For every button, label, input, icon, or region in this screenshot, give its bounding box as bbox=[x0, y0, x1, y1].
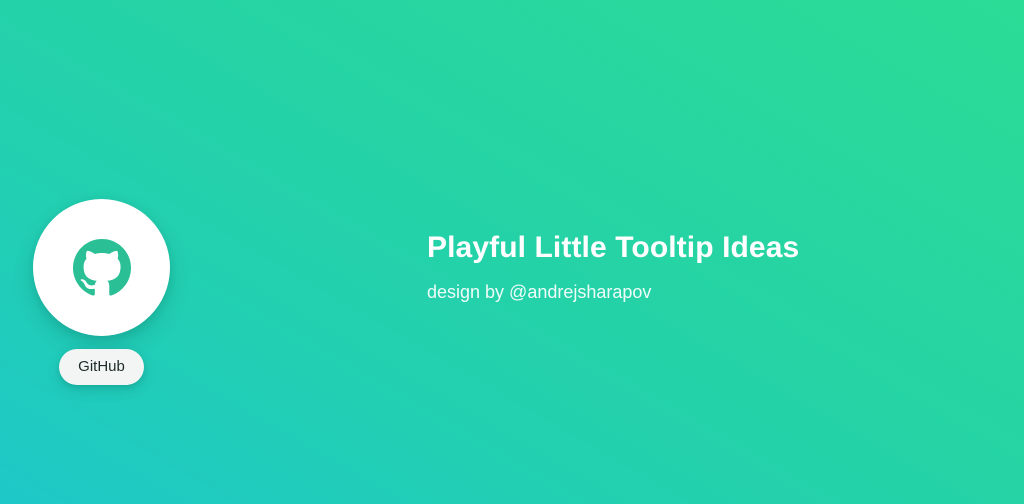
headline-block: Playful Little Tooltip Ideas design by @… bbox=[427, 231, 799, 303]
page-subtitle: design by @andrejsharapov bbox=[427, 282, 799, 304]
github-avatar-button[interactable] bbox=[33, 199, 170, 336]
github-octocat-icon bbox=[73, 239, 131, 297]
github-tooltip-label: GitHub bbox=[59, 349, 144, 385]
github-tooltip-widget[interactable]: GitHub bbox=[33, 199, 170, 385]
page-background: GitHub Playful Little Tooltip Ideas desi… bbox=[0, 0, 1024, 504]
page-title: Playful Little Tooltip Ideas bbox=[427, 231, 799, 266]
